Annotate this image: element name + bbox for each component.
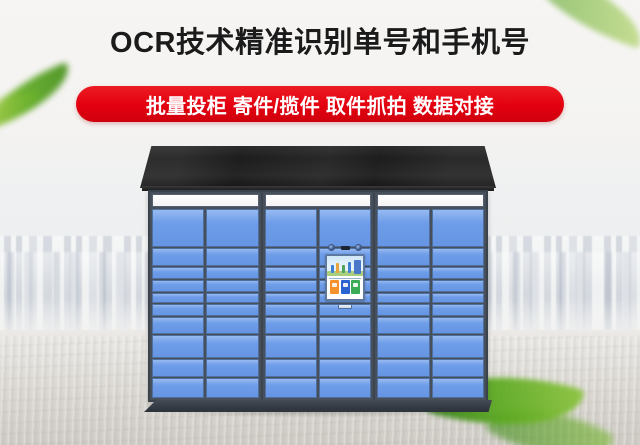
locker-door[interactable] xyxy=(377,248,429,267)
bay-door-grid xyxy=(152,209,259,398)
locker-door[interactable] xyxy=(206,317,258,334)
locker-door[interactable] xyxy=(206,359,258,378)
door-column-kiosk xyxy=(319,209,371,398)
bay-header-panel xyxy=(265,194,372,207)
ticker-text xyxy=(329,278,361,279)
door-column xyxy=(265,209,317,398)
locker-door[interactable] xyxy=(265,304,317,316)
card-slot[interactable] xyxy=(338,304,352,309)
locker-door[interactable] xyxy=(152,378,204,398)
locker-door[interactable] xyxy=(432,359,484,378)
locker-door[interactable] xyxy=(377,378,429,398)
poster-stage: OCR技术精准识别单号和手机号 批量投柜 寄件/揽件 取件抓拍 数据对接 xyxy=(0,0,640,445)
locker-cabinet xyxy=(140,146,496,418)
banner-figure-shape xyxy=(348,262,351,273)
locker-door[interactable] xyxy=(265,280,317,292)
bay-door-grid xyxy=(377,209,484,398)
banner-locker-shape xyxy=(354,260,361,274)
locker-door[interactable] xyxy=(377,280,429,292)
locker-door[interactable] xyxy=(432,209,484,247)
locker-door[interactable] xyxy=(206,209,258,247)
camera-lens-icon-left xyxy=(328,244,335,251)
locker-door[interactable] xyxy=(265,378,317,398)
locker-bay-center xyxy=(263,192,376,400)
locker-door[interactable] xyxy=(265,293,317,303)
screen-button-more[interactable] xyxy=(351,280,360,294)
locker-door[interactable] xyxy=(152,359,204,378)
screen-button-pickup[interactable] xyxy=(341,280,350,294)
kiosk-panel xyxy=(324,243,366,309)
locker-door[interactable] xyxy=(152,267,204,279)
locker-door[interactable] xyxy=(432,317,484,334)
door-column xyxy=(152,209,204,398)
locker-door[interactable] xyxy=(377,304,429,316)
locker-door[interactable] xyxy=(319,378,371,398)
locker-door[interactable] xyxy=(152,317,204,334)
locker-door[interactable] xyxy=(432,248,484,267)
door-column xyxy=(377,209,429,398)
cabinet-shadow xyxy=(142,410,494,418)
locker-door[interactable] xyxy=(432,267,484,279)
banner-figure-shape xyxy=(342,265,345,273)
locker-door[interactable] xyxy=(377,335,429,358)
bay-door-grid xyxy=(265,209,372,398)
locker-door[interactable] xyxy=(265,209,317,247)
locker-door[interactable] xyxy=(152,293,204,303)
locker-door[interactable] xyxy=(152,335,204,358)
locker-door[interactable] xyxy=(377,209,429,247)
locker-door[interactable] xyxy=(206,335,258,358)
cabinet-body xyxy=(148,190,488,402)
locker-door[interactable] xyxy=(377,293,429,303)
locker-door[interactable] xyxy=(432,304,484,316)
locker-door[interactable] xyxy=(377,359,429,378)
cabinet-canopy-sheen xyxy=(140,146,496,188)
screen-button-send[interactable] xyxy=(330,280,339,294)
door-column xyxy=(432,209,484,398)
locker-door[interactable] xyxy=(265,335,317,358)
locker-door[interactable] xyxy=(319,317,371,334)
locker-door[interactable] xyxy=(206,378,258,398)
locker-door[interactable] xyxy=(432,378,484,398)
locker-door[interactable] xyxy=(206,293,258,303)
locker-door[interactable] xyxy=(206,248,258,267)
page-title: OCR技术精准识别单号和手机号 xyxy=(0,26,640,61)
locker-door[interactable] xyxy=(432,293,484,303)
locker-door[interactable] xyxy=(377,267,429,279)
feature-pill-text: 批量投柜 寄件/揽件 取件抓拍 数据对接 xyxy=(146,90,494,119)
locker-door[interactable] xyxy=(152,248,204,267)
locker-door[interactable] xyxy=(319,335,371,358)
locker-door[interactable] xyxy=(432,335,484,358)
bay-header-panel xyxy=(377,194,484,207)
locker-door[interactable] xyxy=(152,304,204,316)
locker-door[interactable] xyxy=(206,267,258,279)
screen-action-buttons xyxy=(327,280,363,294)
locker-door[interactable] xyxy=(377,317,429,334)
banner-figure-shape xyxy=(331,265,334,273)
screen-footer xyxy=(327,294,363,299)
locker-door[interactable] xyxy=(265,248,317,267)
locker-door[interactable] xyxy=(206,280,258,292)
locker-door[interactable] xyxy=(432,280,484,292)
locker-door[interactable] xyxy=(152,280,204,292)
camera-lens-icon-right xyxy=(355,244,362,251)
locker-door[interactable] xyxy=(265,317,317,334)
banner-figure-shape xyxy=(336,263,339,273)
locker-door[interactable] xyxy=(206,304,258,316)
scanner-bar-icon xyxy=(341,246,350,250)
locker-bay-left xyxy=(150,192,263,400)
locker-door[interactable] xyxy=(319,359,371,378)
bay-header-panel xyxy=(152,194,259,207)
locker-bay-right xyxy=(375,192,486,400)
screen-banner-image xyxy=(327,256,363,276)
locker-door[interactable] xyxy=(319,209,371,247)
locker-door[interactable] xyxy=(265,267,317,279)
locker-door[interactable] xyxy=(265,359,317,378)
locker-door[interactable] xyxy=(152,209,204,247)
kiosk-sensor-row xyxy=(328,243,362,252)
feature-pill-banner: 批量投柜 寄件/揽件 取件抓拍 数据对接 xyxy=(76,86,564,122)
kiosk-touchscreen[interactable] xyxy=(325,254,365,301)
door-column xyxy=(206,209,258,398)
